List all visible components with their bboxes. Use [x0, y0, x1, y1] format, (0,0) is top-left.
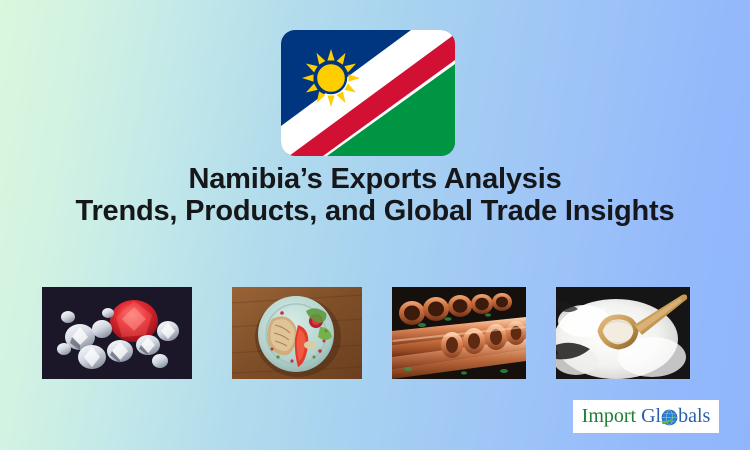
- logo-text-bals: bals: [678, 405, 710, 428]
- salt-spoon-icon: [556, 287, 690, 379]
- globe-icon: [661, 409, 678, 426]
- product-image-strip: [0, 287, 750, 379]
- fish-plate-icon: [232, 287, 362, 379]
- page-title-line-1: Namibia’s Exports Analysis: [0, 163, 750, 195]
- import-globals-logo[interactable]: Import Gl bals: [573, 400, 719, 433]
- page-title: Namibia’s Exports Analysis Trends, Produ…: [0, 163, 750, 228]
- product-image-copper: [392, 287, 526, 379]
- copper-pipe-icon: [392, 287, 526, 379]
- page-title-line-2: Trends, Products, and Global Trade Insig…: [0, 195, 750, 227]
- logo-text-import: Import: [582, 405, 636, 428]
- diamond-icon: [42, 287, 192, 379]
- globe-graphic: [661, 409, 678, 426]
- namibia-flag-icon: [281, 30, 455, 156]
- product-image-fish: [232, 287, 362, 379]
- export-analysis-banner: Namibia’s Exports Analysis Trends, Produ…: [0, 0, 750, 450]
- logo-wordmark: Import Gl bals: [582, 405, 711, 428]
- namibia-flag-graphic: [281, 30, 455, 156]
- logo-text-gl: Gl: [641, 405, 661, 428]
- product-image-diamonds: [42, 287, 192, 379]
- product-image-salt: [556, 287, 690, 379]
